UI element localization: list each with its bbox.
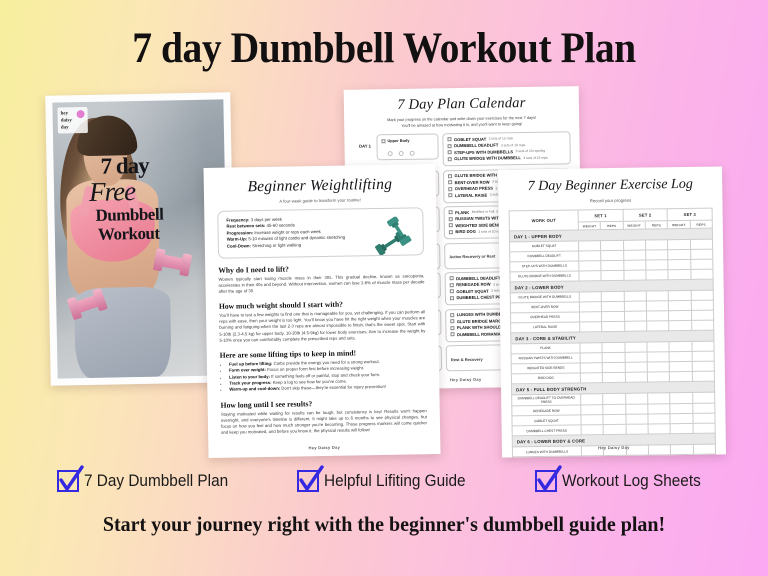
guide-tip-text: Don't skip these—they're essential for i… <box>280 384 386 391</box>
log-entry-cell[interactable] <box>646 291 668 301</box>
calendar-focus-box[interactable]: Upper Body <box>376 134 438 161</box>
log-entry-cell[interactable] <box>602 311 624 321</box>
log-entry-cell[interactable] <box>669 290 691 300</box>
exercise-name: DUMBBELL DEADLIFT <box>454 143 498 149</box>
guide-q1-body: Women typically start losing muscle mass… <box>218 273 424 295</box>
guide-tip-label: Listen to your body: <box>229 373 270 379</box>
log-entry-cell[interactable] <box>580 312 602 322</box>
log-entry-cell[interactable] <box>602 321 624 331</box>
log-entry-cell[interactable] <box>691 300 713 310</box>
quick-facts-card: Frequency: 3 days per weekRest between s… <box>217 207 424 259</box>
exercise-name: PLANK <box>455 210 469 215</box>
checkbox-icon[interactable] <box>448 193 452 197</box>
guide-tip-label: Track your progress: <box>229 380 271 386</box>
log-entry-cell[interactable] <box>625 393 647 405</box>
guide-q4-body: Staying motivated while waiting for resu… <box>221 408 427 436</box>
log-entry-cell[interactable] <box>603 415 625 425</box>
log-entry-cell[interactable] <box>602 352 624 362</box>
log-entry-cell[interactable] <box>626 414 648 424</box>
log-col-set-2: SET 2 <box>623 209 668 222</box>
checkbox-icon[interactable] <box>448 180 452 184</box>
log-entry-cell[interactable] <box>668 239 690 249</box>
log-entry-cell[interactable] <box>669 351 691 361</box>
log-entry-cell[interactable] <box>582 456 604 458</box>
log-entry-cell[interactable] <box>581 425 603 435</box>
guide-footer: Hey Daisy Day <box>208 443 440 452</box>
log-entry-cell[interactable] <box>668 269 690 279</box>
log-entry-cell[interactable] <box>646 250 668 260</box>
log-entry-cell[interactable] <box>625 404 647 414</box>
checkbox-icon[interactable] <box>448 150 452 154</box>
guide-q2-body: You'll have to test a few weights to fin… <box>219 309 426 343</box>
checkbox-icon[interactable] <box>450 296 454 300</box>
log-col-set-3: SET 3 <box>667 208 712 221</box>
exercise-name: BENT-OVER ROW <box>455 179 490 185</box>
checkbox-icon[interactable] <box>448 157 452 161</box>
log-entry-cell[interactable] <box>671 455 693 458</box>
checkbox-icon[interactable] <box>450 319 454 323</box>
exercise-name: WEIGHTED SIDE BENDS <box>455 222 503 228</box>
checkbox-icon[interactable] <box>449 210 453 214</box>
log-entry-cell[interactable] <box>602 342 624 352</box>
quick-fact-value: 3 days per week <box>250 217 283 223</box>
log-exercise-name: DUMBBELL DEADLIFT TO OVERHEAD PRESS <box>512 394 581 406</box>
log-entry-cell[interactable] <box>670 414 692 424</box>
log-entry-cell[interactable] <box>579 292 601 302</box>
log-entry-cell[interactable] <box>647 342 669 352</box>
log-entry-cell[interactable] <box>647 362 669 372</box>
product-mockup-pages: hey daisy day 7 day Free Dumbbell Workou… <box>0 0 768 470</box>
log-entry-cell[interactable] <box>669 310 691 320</box>
log-col-workout: WORK OUT <box>509 210 578 231</box>
log-entry-cell[interactable] <box>625 362 647 372</box>
log-entry-cell[interactable] <box>690 259 712 269</box>
log-entry-cell[interactable] <box>668 249 690 259</box>
checkbox-checked-icon[interactable] <box>297 470 319 492</box>
log-entry-cell[interactable] <box>648 404 670 414</box>
pink-dumbbell-icon <box>159 254 187 271</box>
log-entry-cell[interactable] <box>691 310 713 320</box>
checkbox-checked-icon[interactable] <box>535 470 557 492</box>
checkbox-icon[interactable] <box>450 313 454 317</box>
log-entry-cell[interactable] <box>668 259 690 269</box>
checkbox-icon[interactable] <box>449 217 453 221</box>
log-col-set-1: SET 1 <box>578 209 623 222</box>
log-entry-cell[interactable] <box>693 423 715 433</box>
log-entry-cell[interactable] <box>580 343 602 353</box>
checkbox-icon[interactable] <box>450 283 454 287</box>
log-entry-cell[interactable] <box>691 320 713 330</box>
log-entry-cell[interactable] <box>692 341 714 351</box>
exercise-name: GLUTE BRIDGE MARCH <box>457 318 504 324</box>
log-table-head: WORK OUT SET 1 SET 2 SET 3 WEIGHTREPSWEI… <box>509 208 712 231</box>
log-entry-cell[interactable] <box>670 392 692 404</box>
log-entry-cell[interactable] <box>625 352 647 362</box>
log-entry-cell[interactable] <box>623 250 645 260</box>
exercise-reps: 3 sets of 12 reps <box>489 136 513 140</box>
feature-check-item[interactable]: Helpful Lifiting Guide <box>297 470 476 492</box>
log-entry-cell[interactable] <box>649 455 671 457</box>
logo-line-3: day <box>61 124 86 131</box>
checkbox-checked-icon[interactable] <box>57 470 79 492</box>
guide-tip-label: Form over weight: <box>229 367 266 373</box>
log-entry-cell[interactable] <box>692 403 714 413</box>
quick-fact-value: Increase weight or reps each week <box>253 229 321 235</box>
log-entry-cell[interactable] <box>624 291 646 301</box>
checkbox-icon[interactable] <box>450 332 454 336</box>
log-entry-cell[interactable] <box>690 239 712 249</box>
calendar-day-label: DAY 1 <box>353 135 376 149</box>
exercise-reps: 3 sets of 10 reps/leg <box>516 149 546 153</box>
log-entry-cell[interactable] <box>648 393 670 405</box>
quick-fact-value: 45-60 seconds <box>265 223 294 229</box>
quick-fact-label: Cool-Down: <box>227 243 251 248</box>
log-entry-cell[interactable] <box>603 372 625 382</box>
log-entry-cell[interactable] <box>603 425 625 435</box>
checkbox-icon[interactable] <box>448 174 452 178</box>
checkbox-icon[interactable] <box>450 326 454 330</box>
dumbbell-illustration-icon <box>372 216 415 255</box>
log-entry-cell[interactable] <box>603 405 625 415</box>
log-entry-cell[interactable] <box>601 250 623 260</box>
log-entry-cell[interactable] <box>670 404 692 414</box>
calendar-day-row: DAY 1Upper BodyGOBLET SQUAT3 sets of 12 … <box>353 131 570 167</box>
log-entry-cell[interactable] <box>623 260 645 270</box>
log-entry-cell[interactable] <box>601 240 623 250</box>
tagline: Start your journey right with the beginn… <box>27 512 741 537</box>
log-entry-cell[interactable] <box>670 371 692 381</box>
log-entry-cell[interactable] <box>624 270 646 280</box>
log-entry-cell[interactable] <box>690 249 712 259</box>
log-entry-cell[interactable] <box>646 270 668 280</box>
log-subtitle: Record your progress <box>508 197 712 205</box>
log-entry-cell[interactable] <box>646 260 668 270</box>
feature-check-label: Workout Log Sheets <box>562 472 701 491</box>
log-entry-cell[interactable] <box>669 320 691 330</box>
log-entry-cell[interactable] <box>580 322 602 332</box>
log-entry-cell[interactable] <box>693 454 715 457</box>
exercise-name: RENEGADE ROW <box>456 282 490 288</box>
exercise-name: OVERHEAD PRESS <box>455 186 493 192</box>
feature-check-label: Helpful Lifiting Guide <box>324 472 466 491</box>
feature-check-item[interactable]: Workout Log Sheets <box>535 470 711 492</box>
log-entry-cell[interactable] <box>580 353 602 363</box>
log-entry-cell[interactable] <box>625 342 647 352</box>
log-entry-cell[interactable] <box>601 260 623 270</box>
log-entry-cell[interactable] <box>624 321 646 331</box>
log-entry-cell[interactable] <box>603 362 625 372</box>
log-entry-cell[interactable] <box>603 393 625 405</box>
log-entry-cell[interactable] <box>646 301 668 311</box>
log-entry-cell[interactable] <box>624 311 646 321</box>
log-entry-cell[interactable] <box>580 363 602 373</box>
guide-tip-label: Fuel up before lifting: <box>229 361 273 367</box>
log-entry-cell[interactable] <box>602 291 624 301</box>
log-entry-cell[interactable] <box>692 361 714 371</box>
log-entry-cell[interactable] <box>692 371 714 381</box>
log-entry-cell[interactable] <box>646 311 668 321</box>
exercise-name: GOBLET SQUAT <box>454 136 486 142</box>
log-entry-cell[interactable] <box>580 373 602 383</box>
cover-photo: hey daisy day 7 day Free Dumbbell Workou… <box>52 99 228 378</box>
log-entry-cell[interactable] <box>648 424 670 434</box>
brand-logo: hey daisy day <box>57 107 87 134</box>
log-entry-cell[interactable] <box>579 251 601 261</box>
log-entry-cell[interactable] <box>693 413 715 423</box>
quick-fact-value: Stretching or light walking <box>251 242 301 248</box>
calendar-focus-label: Upper Body <box>387 138 409 143</box>
guide-title: Beginner Weightlifting <box>217 175 423 197</box>
log-entry-cell[interactable] <box>601 270 623 280</box>
exercise-log-table: WORK OUT SET 1 SET 2 SET 3 WEIGHTREPSWEI… <box>509 208 717 458</box>
log-entry-cell[interactable] <box>670 361 692 371</box>
log-title: 7 Day Beginner Exercise Log <box>508 177 712 196</box>
checkbox-icon[interactable] <box>449 223 453 227</box>
checkbox-icon[interactable] <box>450 289 454 293</box>
checkbox-icon[interactable] <box>447 137 451 141</box>
log-entry-cell[interactable] <box>648 414 670 424</box>
log-entry-cell[interactable] <box>579 261 601 271</box>
checkbox-icon[interactable] <box>448 144 452 148</box>
cover-title-line-4: Workout <box>98 222 222 244</box>
calendar-title: 7 Day Plan Calendar <box>353 94 570 114</box>
calendar-exercise-item[interactable]: GLUTE BRIDGE WITH DUMBBELL3 sets of 15 r… <box>448 155 566 162</box>
exercise-reps: 3 sets of 10 reps <box>501 143 525 147</box>
log-sheet[interactable]: 7 Day Beginner Exercise Log Record your … <box>498 166 726 457</box>
log-entry-cell[interactable] <box>669 341 691 351</box>
log-entry-cell[interactable] <box>626 455 648 457</box>
log-entry-cell[interactable] <box>579 241 601 251</box>
log-entry-cell[interactable] <box>669 300 691 310</box>
log-entry-cell[interactable] <box>692 392 715 404</box>
guide-sheet[interactable]: Beginner Weightlifting A four-week guide… <box>203 164 440 458</box>
guide-tip-label: Warm-up and cool-down: <box>229 386 280 392</box>
log-entry-cell[interactable] <box>692 351 714 361</box>
checkbox-icon[interactable] <box>449 230 453 234</box>
calendar-progress-dots[interactable] <box>388 151 415 156</box>
log-entry-cell[interactable] <box>626 424 648 434</box>
quick-fact-label: Progression: <box>227 230 254 235</box>
log-entry-cell[interactable] <box>624 301 646 311</box>
exercise-name: GLUTE BRIDGE WITH DUMBBELL <box>454 155 521 161</box>
log-entry-cell[interactable] <box>623 240 645 250</box>
log-entry-cell[interactable] <box>647 321 669 331</box>
feature-checklist: 7 Day Dumbbell PlanHelpful Lifiting Guid… <box>0 470 768 492</box>
log-entry-cell[interactable] <box>647 372 669 382</box>
log-entry-cell[interactable] <box>645 240 667 250</box>
calendar-exercise-box[interactable]: GOBLET SQUAT3 sets of 12 repsDUMBBELL DE… <box>442 131 571 166</box>
log-table-body: DAY 1 - UPPER BODYGOBLET SQUATDUMBBELL D… <box>509 228 716 457</box>
exercise-name: LATERAL RAISE <box>455 192 487 198</box>
log-entry-cell[interactable] <box>579 271 601 281</box>
checkbox-icon[interactable] <box>450 276 454 280</box>
quick-fact-value: 5-10 minutes of light cardio and dynamic… <box>247 235 345 242</box>
log-entry-cell[interactable] <box>670 424 692 434</box>
exercise-name: BIRD DOG <box>455 229 476 234</box>
log-entry-cell[interactable] <box>625 372 647 382</box>
log-exercise-name: GLUTE BRIDGE MARCH <box>513 456 582 457</box>
log-entry-cell[interactable] <box>581 405 603 415</box>
checkbox-icon[interactable] <box>381 139 385 143</box>
log-entry-cell[interactable] <box>604 456 626 458</box>
calendar-subtitle: Mark your progress on the calendar and w… <box>353 114 570 129</box>
guide-subtitle: A four-week guide to transform your rout… <box>217 196 423 205</box>
log-entry-cell[interactable] <box>691 269 713 279</box>
log-entry-cell[interactable] <box>581 394 603 406</box>
quick-fact-label: Warm-Up: <box>227 237 247 242</box>
log-entry-cell[interactable] <box>579 302 601 312</box>
feature-check-item[interactable]: 7 Day Dumbbell Plan <box>57 470 239 492</box>
exercise-name: STEP-UPS WITH DUMBBELLS <box>454 149 513 155</box>
calendar-focus-header: Upper Body <box>381 138 433 144</box>
log-entry-cell[interactable] <box>647 352 669 362</box>
log-entry-cell[interactable] <box>691 290 713 300</box>
quick-fact-label: Rest between sets: <box>226 223 265 229</box>
guide-tip-text: Keep a log to see how far you've come. <box>271 379 347 385</box>
log-entry-cell[interactable] <box>581 415 603 425</box>
quick-fact-label: Frequency: <box>226 217 249 222</box>
exercise-name: GOBLET SQUAT <box>456 288 488 294</box>
guide-tip-text: If something feels off or painful, stop … <box>270 372 380 379</box>
guide-tips-list: Fuel up before lifting: Carbs provide th… <box>229 358 427 393</box>
exercise-reps: 3 sets of 15 reps <box>523 155 547 159</box>
log-entry-cell[interactable] <box>602 301 624 311</box>
checkbox-icon[interactable] <box>448 187 452 191</box>
feature-check-label: 7 Day Dumbbell Plan <box>84 472 228 491</box>
